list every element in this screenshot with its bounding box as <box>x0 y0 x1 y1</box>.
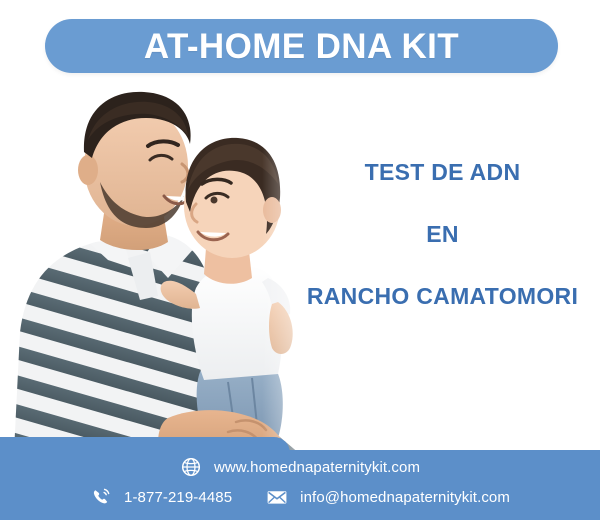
headline-line-3: RANCHO CAMATOMORI <box>290 284 595 308</box>
envelope-icon <box>266 486 288 508</box>
footer-phone-label: 1-877-219-4485 <box>124 490 232 505</box>
banner-pill: AT-HOME DNA KIT <box>45 19 558 73</box>
headline-line-2: EN <box>290 222 595 246</box>
footer-email-label: info@homednapaternitykit.com <box>300 490 510 505</box>
father-holding-toddler-photo <box>0 82 330 452</box>
footer-content: www.homednapaternitykit.com 1-877-219-44… <box>0 450 600 520</box>
globe-icon <box>180 456 202 478</box>
footer-row-website: www.homednapaternitykit.com <box>0 456 600 478</box>
footer-phone-item[interactable]: 1-877-219-4485 <box>90 486 232 508</box>
banner-title: AT-HOME DNA KIT <box>144 29 459 64</box>
footer-website-label: www.homednapaternitykit.com <box>214 460 420 475</box>
footer-row-contact: 1-877-219-4485 info@homednapaternitykit.… <box>0 486 600 508</box>
footer-website-item[interactable]: www.homednapaternitykit.com <box>180 456 420 478</box>
headline-line-1: TEST DE ADN <box>290 160 595 184</box>
promo-banner-canvas: AT-HOME DNA KIT <box>0 0 600 520</box>
headline-block: TEST DE ADN EN RANCHO CAMATOMORI <box>290 160 595 308</box>
footer-email-item[interactable]: info@homednapaternitykit.com <box>266 486 510 508</box>
phone-icon <box>90 486 112 508</box>
